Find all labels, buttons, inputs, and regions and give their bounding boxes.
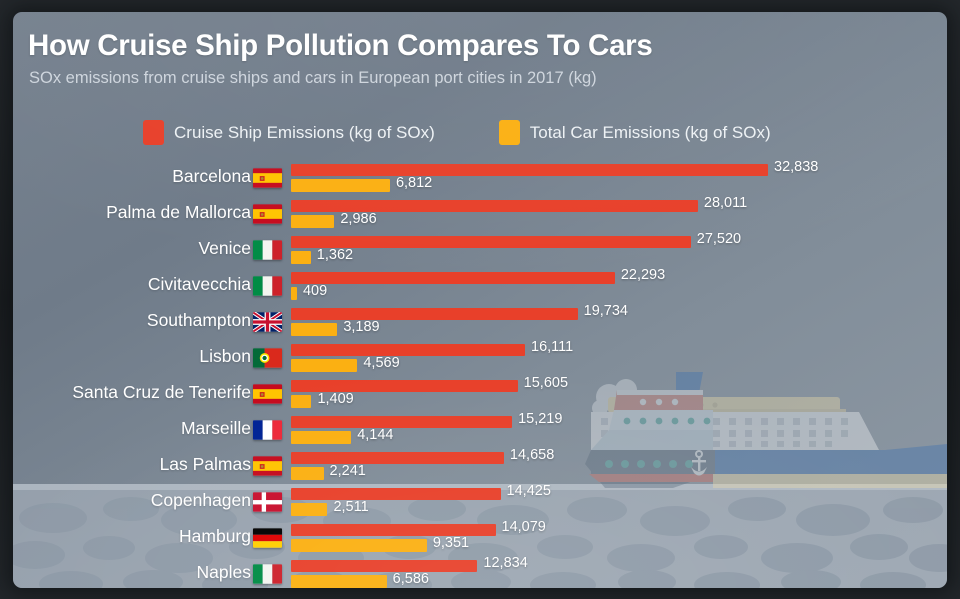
city-label: Lisbon	[13, 346, 251, 367]
car-emission-bar[interactable]	[291, 323, 337, 336]
poster-panel: How Cruise Ship Pollution Compares To Ca…	[13, 12, 947, 588]
car-emission-bar[interactable]	[291, 395, 311, 408]
car-emission-value: 2,241	[330, 463, 366, 479]
car-emission-bar[interactable]	[291, 359, 357, 372]
car-emission-value: 9,351	[433, 535, 469, 551]
chart-row: Copenhagen14,4252,511	[13, 486, 947, 522]
cruise-emission-value: 27,520	[697, 231, 741, 247]
cruise-emission-bar[interactable]	[291, 452, 504, 464]
car-emission-bar[interactable]	[291, 575, 387, 588]
cruise-emission-value: 12,834	[483, 555, 527, 571]
flag-spain-icon	[253, 204, 282, 224]
car-emission-value: 409	[303, 283, 327, 299]
car-emission-bar[interactable]	[291, 179, 390, 192]
city-label: Marseille	[13, 418, 251, 439]
cruise-emission-bar[interactable]	[291, 308, 578, 320]
row-bars: 16,1114,569	[291, 342, 947, 378]
flag-portugal-icon	[253, 348, 282, 368]
cruise-emission-value: 32,838	[774, 159, 818, 175]
cruise-emission-bar[interactable]	[291, 164, 768, 176]
row-bars: 15,6051,409	[291, 378, 947, 414]
row-bars: 14,4252,511	[291, 486, 947, 522]
chart-row: Las Palmas14,6582,241	[13, 450, 947, 486]
flag-italy-icon	[253, 276, 282, 296]
chart-row: Hamburg14,0799,351	[13, 522, 947, 558]
cruise-emission-value: 22,293	[621, 267, 665, 283]
poster-frame: How Cruise Ship Pollution Compares To Ca…	[0, 0, 960, 599]
city-label: Las Palmas	[13, 454, 251, 475]
chart-row: Barcelona32,8386,812	[13, 162, 947, 198]
chart-row: Naples12,8346,586	[13, 558, 947, 588]
page-title: How Cruise Ship Pollution Compares To Ca…	[28, 29, 652, 63]
cruise-emission-value: 15,219	[518, 411, 562, 427]
cruise-emission-value: 14,425	[507, 483, 551, 499]
car-emission-bar[interactable]	[291, 539, 427, 552]
cruise-emission-bar[interactable]	[291, 560, 477, 572]
car-emission-value: 6,812	[396, 175, 432, 191]
chart-row: Venice27,5201,362	[13, 234, 947, 270]
flag-germany-icon	[253, 528, 282, 548]
flag-spain-icon	[253, 168, 282, 188]
cruise-emission-bar[interactable]	[291, 488, 501, 500]
car-emission-value: 2,986	[340, 211, 376, 227]
city-label: Palma de Mallorca	[13, 202, 251, 223]
row-bars: 12,8346,586	[291, 558, 947, 588]
page-subtitle: SOx emissions from cruise ships and cars…	[29, 69, 597, 88]
flag-denmark-icon	[253, 492, 282, 512]
chart-row: Palma de Mallorca28,0112,986	[13, 198, 947, 234]
city-label: Venice	[13, 238, 251, 259]
cruise-emission-value: 19,734	[584, 303, 628, 319]
car-emission-value: 2,511	[333, 499, 368, 515]
city-label: Southampton	[13, 310, 251, 331]
car-emission-value: 4,144	[357, 427, 393, 443]
cruise-emission-bar[interactable]	[291, 416, 512, 428]
car-emission-bar[interactable]	[291, 467, 324, 480]
cruise-emission-value: 28,011	[704, 195, 747, 211]
city-label: Santa Cruz de Tenerife	[13, 382, 251, 403]
city-label: Barcelona	[13, 166, 251, 187]
cruise-emission-bar[interactable]	[291, 344, 525, 356]
row-bars: 19,7343,189	[291, 306, 947, 342]
legend-item-car[interactable]: Total Car Emissions (kg of SOx)	[499, 120, 771, 145]
legend-label-car: Total Car Emissions (kg of SOx)	[530, 123, 771, 143]
city-label: Civitavecchia	[13, 274, 251, 295]
car-emission-value: 1,409	[317, 391, 353, 407]
row-bars: 28,0112,986	[291, 198, 947, 234]
flag-italy-icon	[253, 240, 282, 260]
cruise-emission-bar[interactable]	[291, 272, 615, 284]
car-emission-value: 1,362	[317, 247, 353, 263]
row-bars: 14,0799,351	[291, 522, 947, 558]
city-label: Naples	[13, 562, 251, 583]
cruise-emission-value: 14,658	[510, 447, 554, 463]
legend-item-cruise[interactable]: Cruise Ship Emissions (kg of SOx)	[143, 120, 435, 145]
row-bars: 22,293409	[291, 270, 947, 306]
row-bars: 15,2194,144	[291, 414, 947, 450]
car-emission-bar[interactable]	[291, 215, 334, 228]
chart-row: Civitavecchia22,293409	[13, 270, 947, 306]
chart-row: Marseille15,2194,144	[13, 414, 947, 450]
yellow-square-swatch-icon	[499, 120, 520, 145]
car-emission-bar[interactable]	[291, 431, 351, 444]
chart-row: Santa Cruz de Tenerife15,6051,409	[13, 378, 947, 414]
car-emission-value: 3,189	[343, 319, 379, 335]
car-emission-value: 6,586	[393, 571, 429, 587]
cruise-emission-value: 14,079	[502, 519, 546, 535]
red-square-swatch-icon	[143, 120, 164, 145]
row-bars: 14,6582,241	[291, 450, 947, 486]
car-emission-bar[interactable]	[291, 503, 327, 516]
row-bars: 32,8386,812	[291, 162, 947, 198]
row-bars: 27,5201,362	[291, 234, 947, 270]
flag-spain-icon	[253, 384, 282, 404]
cruise-emission-value: 15,605	[524, 375, 568, 391]
car-emission-bar[interactable]	[291, 287, 297, 300]
city-label: Copenhagen	[13, 490, 251, 511]
car-emission-value: 4,569	[363, 355, 399, 371]
chart-legend: Cruise Ship Emissions (kg of SOx) Total …	[143, 120, 771, 145]
chart-row: Lisbon16,1114,569	[13, 342, 947, 378]
cruise-emission-value: 16,111	[531, 339, 573, 355]
flag-italy-icon	[253, 564, 282, 584]
flag-france-icon	[253, 420, 282, 440]
chart-content: How Cruise Ship Pollution Compares To Ca…	[13, 12, 947, 588]
flag-uk-icon	[253, 312, 282, 332]
bar-chart-rows: Barcelona32,8386,812Palma de Mallorca28,…	[13, 162, 947, 588]
flag-spain-icon	[253, 456, 282, 476]
chart-row: Southampton19,7343,189	[13, 306, 947, 342]
legend-label-cruise: Cruise Ship Emissions (kg of SOx)	[174, 123, 435, 143]
city-label: Hamburg	[13, 526, 251, 547]
car-emission-bar[interactable]	[291, 251, 311, 264]
